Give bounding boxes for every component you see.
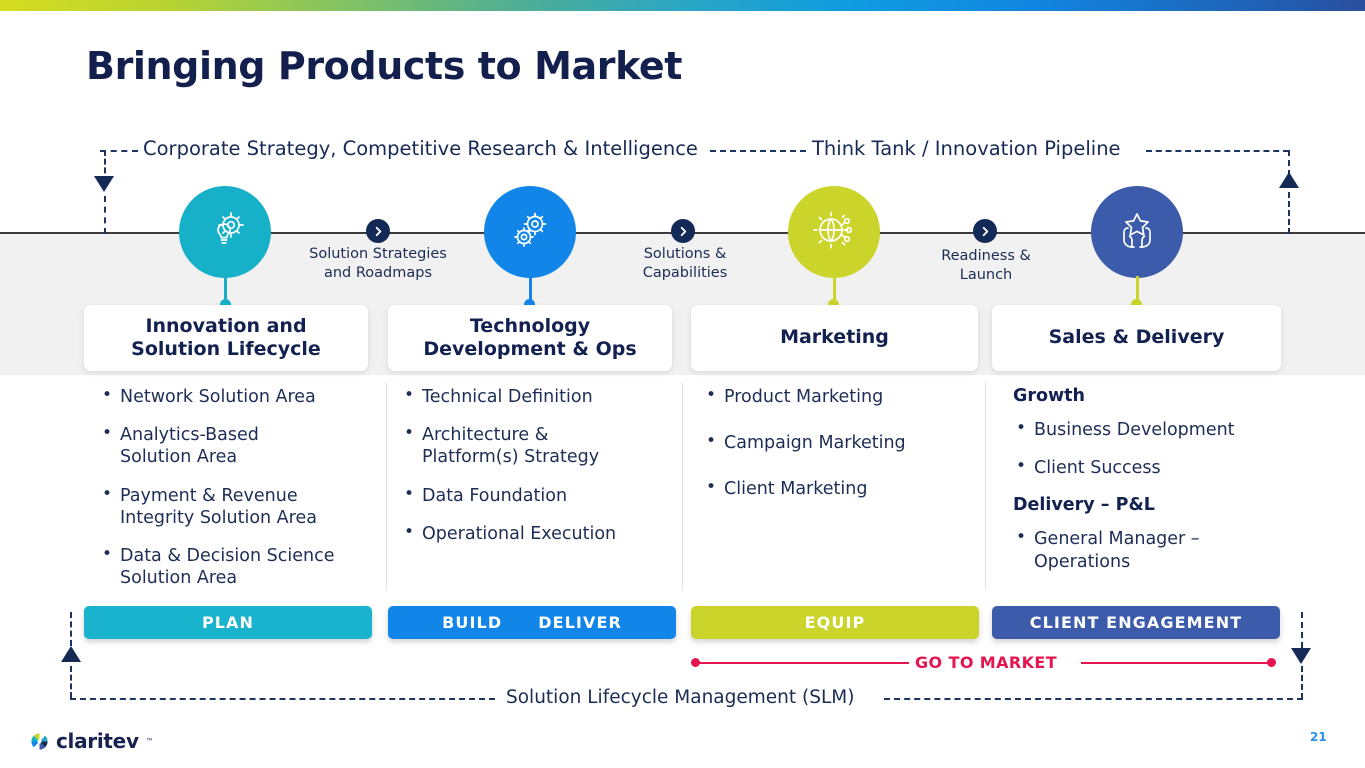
- phase-bar-label: CLIENT ENGAGEMENT: [1030, 613, 1242, 632]
- column-title-4: Sales & Delivery: [1049, 326, 1225, 349]
- timeline-node-1[interactable]: [179, 186, 271, 278]
- list-item: Client Marketing: [703, 478, 973, 500]
- list-item: Operational Execution: [401, 523, 671, 545]
- footer-brand-name: claritev: [56, 729, 139, 753]
- column-header-card-4[interactable]: Sales & Delivery: [992, 305, 1281, 371]
- phase-bar-build-deliver[interactable]: BUILD DELIVER: [388, 606, 676, 639]
- annotation-left-arrow-down: [94, 176, 114, 192]
- column-title-line2: Solution Lifecycle: [131, 338, 321, 361]
- list-item: Technical Definition: [401, 386, 671, 408]
- go-to-market-line-right: [1081, 662, 1272, 664]
- annotation-label-1: Corporate Strategy, Competitive Research…: [143, 137, 698, 160]
- column-title-line1: Marketing: [780, 326, 889, 349]
- slide-root: Bringing Products to Market Corporate St…: [0, 0, 1365, 768]
- phase-bar-label: EQUIP: [805, 613, 866, 632]
- go-to-market-dot-right: [1267, 658, 1276, 667]
- chevron-right-icon: [373, 222, 384, 241]
- phase-bar-label-build: BUILD: [442, 613, 502, 632]
- footer-logo[interactable]: claritev ™: [30, 729, 154, 753]
- column-body-2: Technical Definition Architecture & Plat…: [401, 386, 671, 561]
- top-gradient-bar: [0, 0, 1365, 11]
- list-item: Data Foundation: [401, 485, 671, 507]
- annotation-label-2: Think Tank / Innovation Pipeline: [812, 137, 1121, 160]
- step-label-line1: Solutions &: [583, 245, 787, 264]
- phase-bar-label-deliver: DELIVER: [538, 613, 622, 632]
- step-label-line2: Launch: [884, 266, 1088, 285]
- claritev-logo-icon: [30, 732, 49, 751]
- slm-left-vertical-lower: [70, 666, 72, 698]
- column-divider-2: [682, 382, 683, 590]
- chevron-right-icon: [678, 222, 689, 241]
- step-label-line1: Solution Strategies: [276, 245, 480, 264]
- slm-left-arrow-up: [61, 646, 81, 662]
- column-body-3: Product Marketing Campaign Marketing Cli…: [703, 386, 973, 517]
- list-item: Network Solution Area: [99, 386, 375, 408]
- step-label-line2: and Roadmaps: [276, 264, 480, 283]
- globe-network-gear-icon: [810, 206, 858, 258]
- timeline-step-1-label: Solution Strategies and Roadmaps: [276, 245, 480, 283]
- step-label-line2: Capabilities: [583, 264, 787, 283]
- list-item: Product Marketing: [703, 386, 973, 408]
- timeline-step-1-chevron[interactable]: [366, 219, 390, 243]
- column-title-2: Technology Development & Ops: [423, 315, 636, 361]
- phase-bar-client-engagement[interactable]: CLIENT ENGAGEMENT: [992, 606, 1280, 639]
- step-label-line1: Readiness &: [884, 247, 1088, 266]
- column-divider-3: [985, 382, 986, 590]
- column-title-line1: Technology: [423, 315, 636, 338]
- phase-bar-equip[interactable]: EQUIP: [691, 606, 979, 639]
- column-title-line1: Innovation and: [131, 315, 321, 338]
- annotation-right-vertical-lower: [1288, 192, 1290, 234]
- slm-dash-right: [884, 698, 1303, 700]
- gears-icon: [506, 206, 554, 258]
- list-item: Business Development: [1013, 419, 1281, 441]
- column-title-1: Innovation and Solution Lifecycle: [131, 315, 321, 361]
- page-title: Bringing Products to Market: [86, 44, 682, 88]
- list-item: Architecture & Platform(s) Strategy: [401, 424, 627, 468]
- chevron-right-icon: [980, 222, 991, 241]
- list-item: Analytics-Based Solution Area: [99, 424, 310, 468]
- lightbulb-gear-icon: [201, 206, 249, 258]
- column-divider-1: [386, 382, 387, 590]
- bullet-list-3: Product Marketing Campaign Marketing Cli…: [703, 386, 973, 501]
- column-body-1: Network Solution Area Analytics-Based So…: [99, 386, 375, 606]
- bullet-list-4b: General Manager – Operations: [1013, 528, 1281, 572]
- go-to-market-label: GO TO MARKET: [915, 653, 1057, 672]
- hands-star-icon: [1113, 206, 1161, 258]
- group-subhead-delivery: Delivery – P&L: [1013, 495, 1281, 515]
- list-item: Data & Decision Science Solution Area: [99, 545, 368, 589]
- footer-trademark: ™: [146, 737, 154, 746]
- timeline-node-4[interactable]: [1091, 186, 1183, 278]
- column-header-card-3[interactable]: Marketing: [691, 305, 978, 371]
- column-title-line2: Development & Ops: [423, 338, 636, 361]
- column-body-4: Growth Business Development Client Succe…: [1013, 386, 1281, 589]
- annotation-left-vertical-lower: [104, 196, 106, 234]
- bullet-list-4a: Business Development Client Success: [1013, 419, 1281, 479]
- slm-label: Solution Lifecycle Management (SLM): [506, 687, 854, 708]
- annotation-left-dash: [100, 150, 138, 152]
- list-item: Client Success: [1013, 457, 1281, 479]
- phase-bar-plan[interactable]: PLAN: [84, 606, 372, 639]
- list-item: General Manager – Operations: [1013, 528, 1249, 572]
- annotation-right-dash: [1146, 150, 1289, 152]
- annotation-right-arrow-up: [1279, 172, 1299, 188]
- column-title-line1: Sales & Delivery: [1049, 326, 1225, 349]
- bullet-list-1: Network Solution Area Analytics-Based So…: [99, 386, 375, 590]
- slm-left-vertical: [70, 612, 72, 646]
- timeline-step-2-label: Solutions & Capabilities: [583, 245, 787, 283]
- list-item: Campaign Marketing: [703, 432, 973, 454]
- page-number: 21: [1310, 730, 1327, 744]
- annotation-mid-dash: [710, 150, 806, 152]
- timeline-node-2[interactable]: [484, 186, 576, 278]
- bullet-list-2: Technical Definition Architecture & Plat…: [401, 386, 671, 545]
- column-header-card-1[interactable]: Innovation and Solution Lifecycle: [84, 305, 368, 371]
- timeline-step-2-chevron[interactable]: [671, 219, 695, 243]
- slm-right-vertical-lower: [1301, 666, 1303, 699]
- slm-dash-left: [70, 698, 495, 700]
- go-to-market-line-left: [697, 662, 909, 664]
- group-subhead-growth: Growth: [1013, 386, 1281, 406]
- timeline-node-3[interactable]: [788, 186, 880, 278]
- column-title-3: Marketing: [780, 326, 889, 349]
- slm-right-vertical: [1301, 612, 1303, 648]
- slm-right-arrow-down: [1291, 648, 1311, 664]
- list-item: Payment & Revenue Integrity Solution Are…: [99, 485, 355, 529]
- phase-bar-label-group: BUILD DELIVER: [442, 613, 622, 632]
- column-header-card-2[interactable]: Technology Development & Ops: [388, 305, 672, 371]
- phase-bar-label: PLAN: [202, 613, 254, 632]
- timeline-step-3-chevron[interactable]: [973, 219, 997, 243]
- timeline-step-3-label: Readiness & Launch: [884, 247, 1088, 285]
